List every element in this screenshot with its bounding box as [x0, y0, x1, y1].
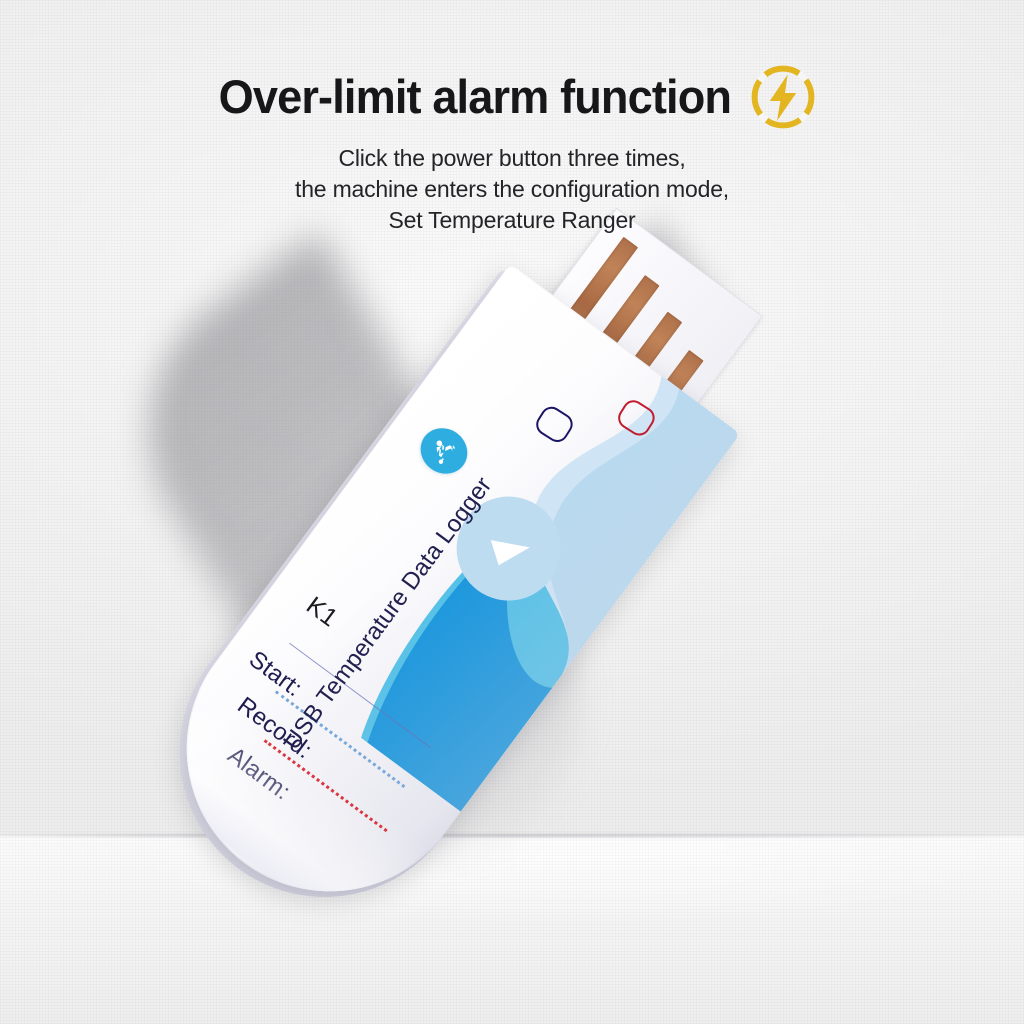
usb-icon — [412, 419, 477, 483]
subtitle-line-1: Click the power button three times, — [0, 143, 1024, 174]
lightning-bolt-icon — [750, 64, 816, 130]
subtitle-line-3: Set Temperature Ranger — [0, 205, 1024, 236]
title-row: Over-limit alarm function — [0, 62, 1024, 130]
page-title: Over-limit alarm function — [219, 69, 731, 124]
floor-edge-line — [0, 834, 1024, 837]
product-scene: Over-limit alarm function Click the powe… — [0, 0, 1024, 1024]
subtitle-block: Click the power button three times, the … — [0, 143, 1024, 236]
subtitle-line-2: the machine enters the configuration mod… — [0, 174, 1024, 205]
model-marking: K1 — [300, 591, 343, 633]
floor-highlight — [0, 840, 1024, 960]
header-block: Over-limit alarm function Click the powe… — [0, 62, 1024, 236]
